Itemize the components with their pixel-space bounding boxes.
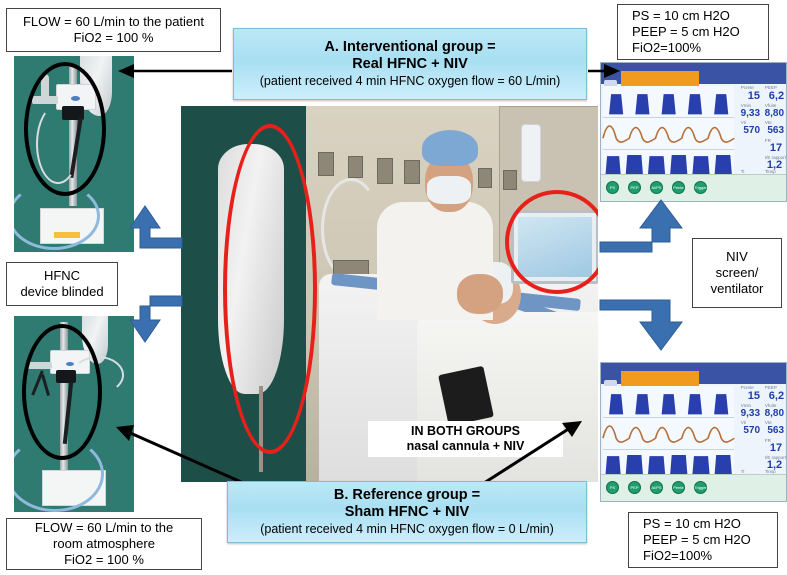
group-b-line1: B. Reference group = (334, 487, 480, 504)
top-left-flow-line2: FiO2 = 100 % (74, 30, 154, 46)
niv-label-line3: ventilator (711, 281, 764, 297)
hfnc-blinded-line2: device blinded (20, 284, 103, 300)
bottom-left-flow-line3: FiO2 = 100 % (64, 552, 144, 568)
group-b-line3: (patient received 4 min HFNC oxygen flow… (260, 522, 554, 537)
niv-label-line1: NIV (726, 249, 748, 265)
arrow-group-a-to-device (118, 64, 232, 78)
niv-label-line2: screen/ (716, 265, 759, 281)
bottom-left-flow-line2: room atmosphere (53, 536, 155, 552)
niv-screen-ventilator-box: NIV screen/ ventilator (692, 238, 782, 308)
group-a-line1: A. Interventional group = (324, 39, 495, 56)
group-a-line2: Real HFNC + NIV (352, 56, 468, 73)
vent-settings-bottom-line3: FiO2=100% (643, 548, 712, 564)
hfnc-blinded-line1: HFNC (44, 268, 80, 284)
vent-settings-bottom-line1: PS = 10 cm H2O (643, 516, 741, 532)
vent-settings-top-box: PS = 10 cm H2O PEEP = 5 cm H2O FiO2=100% (617, 4, 769, 60)
vent-settings-top-line3: FiO2=100% (632, 40, 701, 56)
group-a-box[interactable]: A. Interventional group = Real HFNC + NI… (233, 28, 587, 100)
top-left-flow-line1: FLOW = 60 L/min to the patient (23, 14, 204, 30)
group-b-line2: Sham HFNC + NIV (345, 504, 469, 521)
blue-arrow-right-down (600, 300, 682, 350)
blue-arrow-right-up (600, 200, 682, 252)
vent-settings-top-line2: PEEP = 5 cm H2O (632, 24, 740, 40)
top-left-flow-box: FLOW = 60 L/min to the patient FiO2 = 10… (6, 8, 221, 52)
hfnc-device-blinded-box: HFNC device blinded (6, 262, 118, 306)
bottom-left-flow-line1: FLOW = 60 L/min to the (35, 520, 173, 536)
arrow-group-a-to-ventilator (588, 64, 620, 78)
vent-settings-bottom-line2: PEEP = 5 cm H2O (643, 532, 751, 548)
group-a-line3: (patient received 4 min HFNC oxygen flow… (260, 74, 560, 89)
vent-settings-top-line1: PS = 10 cm H2O (632, 8, 730, 24)
group-b-box[interactable]: B. Reference group = Sham HFNC + NIV (pa… (227, 481, 587, 543)
blue-arrow-left-down (130, 296, 182, 342)
bottom-left-flow-box: FLOW = 60 L/min to the room atmosphere F… (6, 518, 202, 570)
blue-arrow-left-up (130, 206, 182, 248)
vent-settings-bottom-box: PS = 10 cm H2O PEEP = 5 cm H2O FiO2=100% (628, 512, 778, 568)
figure-canvas: FLOW = 60 L/min to the patient FiO2 = 10… (0, 0, 787, 575)
